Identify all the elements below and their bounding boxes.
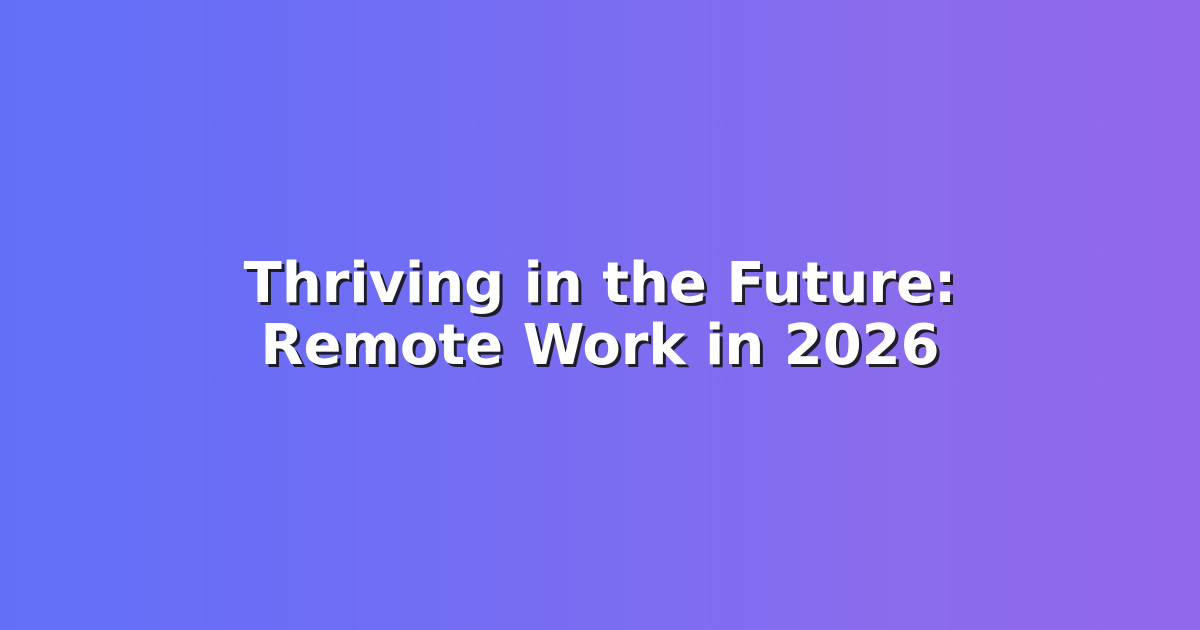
- social-share-card: Thriving in the Future: Remote Work in 2…: [0, 0, 1200, 630]
- title-block: Thriving in the Future: Remote Work in 2…: [110, 253, 1090, 376]
- page-title: Thriving in the Future: Remote Work in 2…: [130, 253, 1070, 376]
